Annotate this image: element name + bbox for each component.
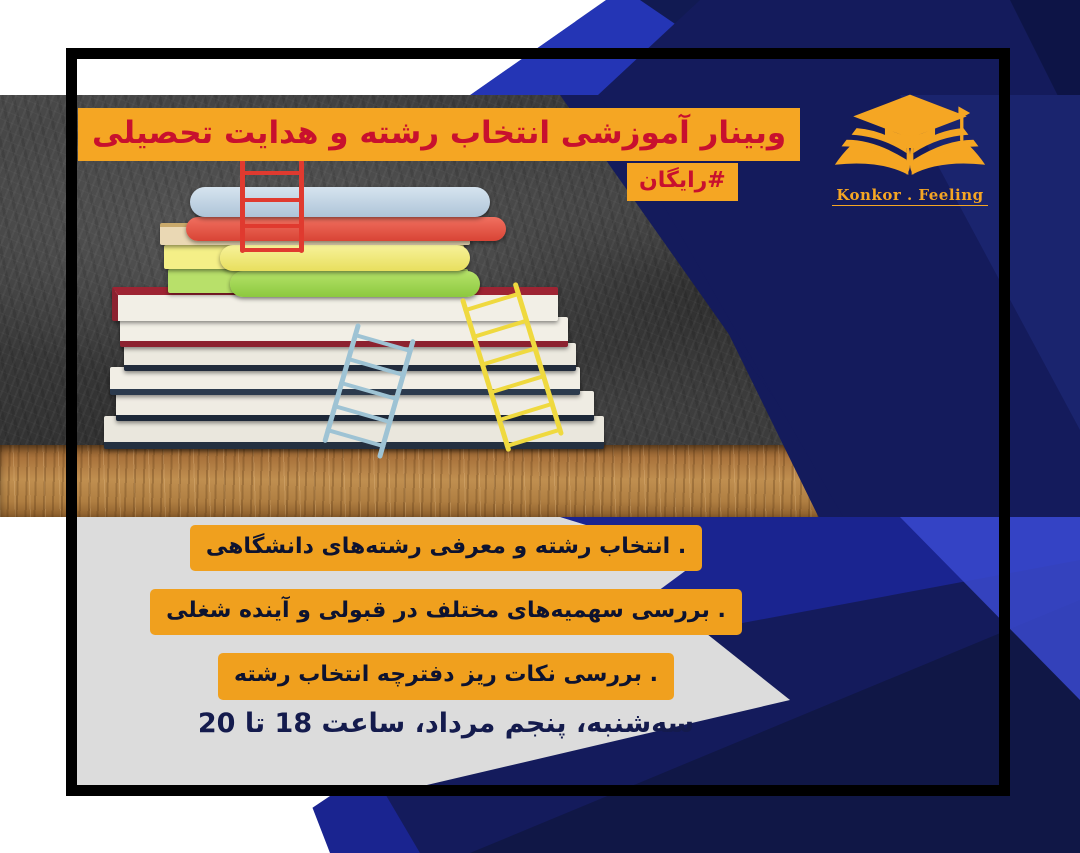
shape-white-bottom-left xyxy=(0,796,330,853)
feature-list: . انتخاب رشته و معرفی رشته‌های دانشگاهی … xyxy=(66,525,826,700)
graduation-cap-book-icon xyxy=(826,88,994,184)
list-item: . انتخاب رشته و معرفی رشته‌های دانشگاهی xyxy=(190,525,702,571)
brand-logo: Konkor . Feeling xyxy=(826,88,994,214)
list-item: . بررسی سهمیه‌های مختلف در قبولی و آینده… xyxy=(150,589,742,635)
free-hashtag-badge: #رایگان xyxy=(627,163,738,201)
shape-white-strip-left xyxy=(0,0,66,95)
page-title: وبینار آموزشی انتخاب رشته و هدایت تحصیلی xyxy=(78,108,800,161)
logo-brand-text: Konkor . Feeling xyxy=(832,186,987,206)
event-datetime: سه‌شنبه، پنجم مرداد، ساعت 18 تا 20 xyxy=(66,708,826,739)
list-item: . بررسی نکات ریز دفترچه انتخاب رشته xyxy=(218,653,674,699)
poster-canvas: Konkor . Feeling وبینار آموزشی انتخاب رش… xyxy=(0,0,1080,853)
